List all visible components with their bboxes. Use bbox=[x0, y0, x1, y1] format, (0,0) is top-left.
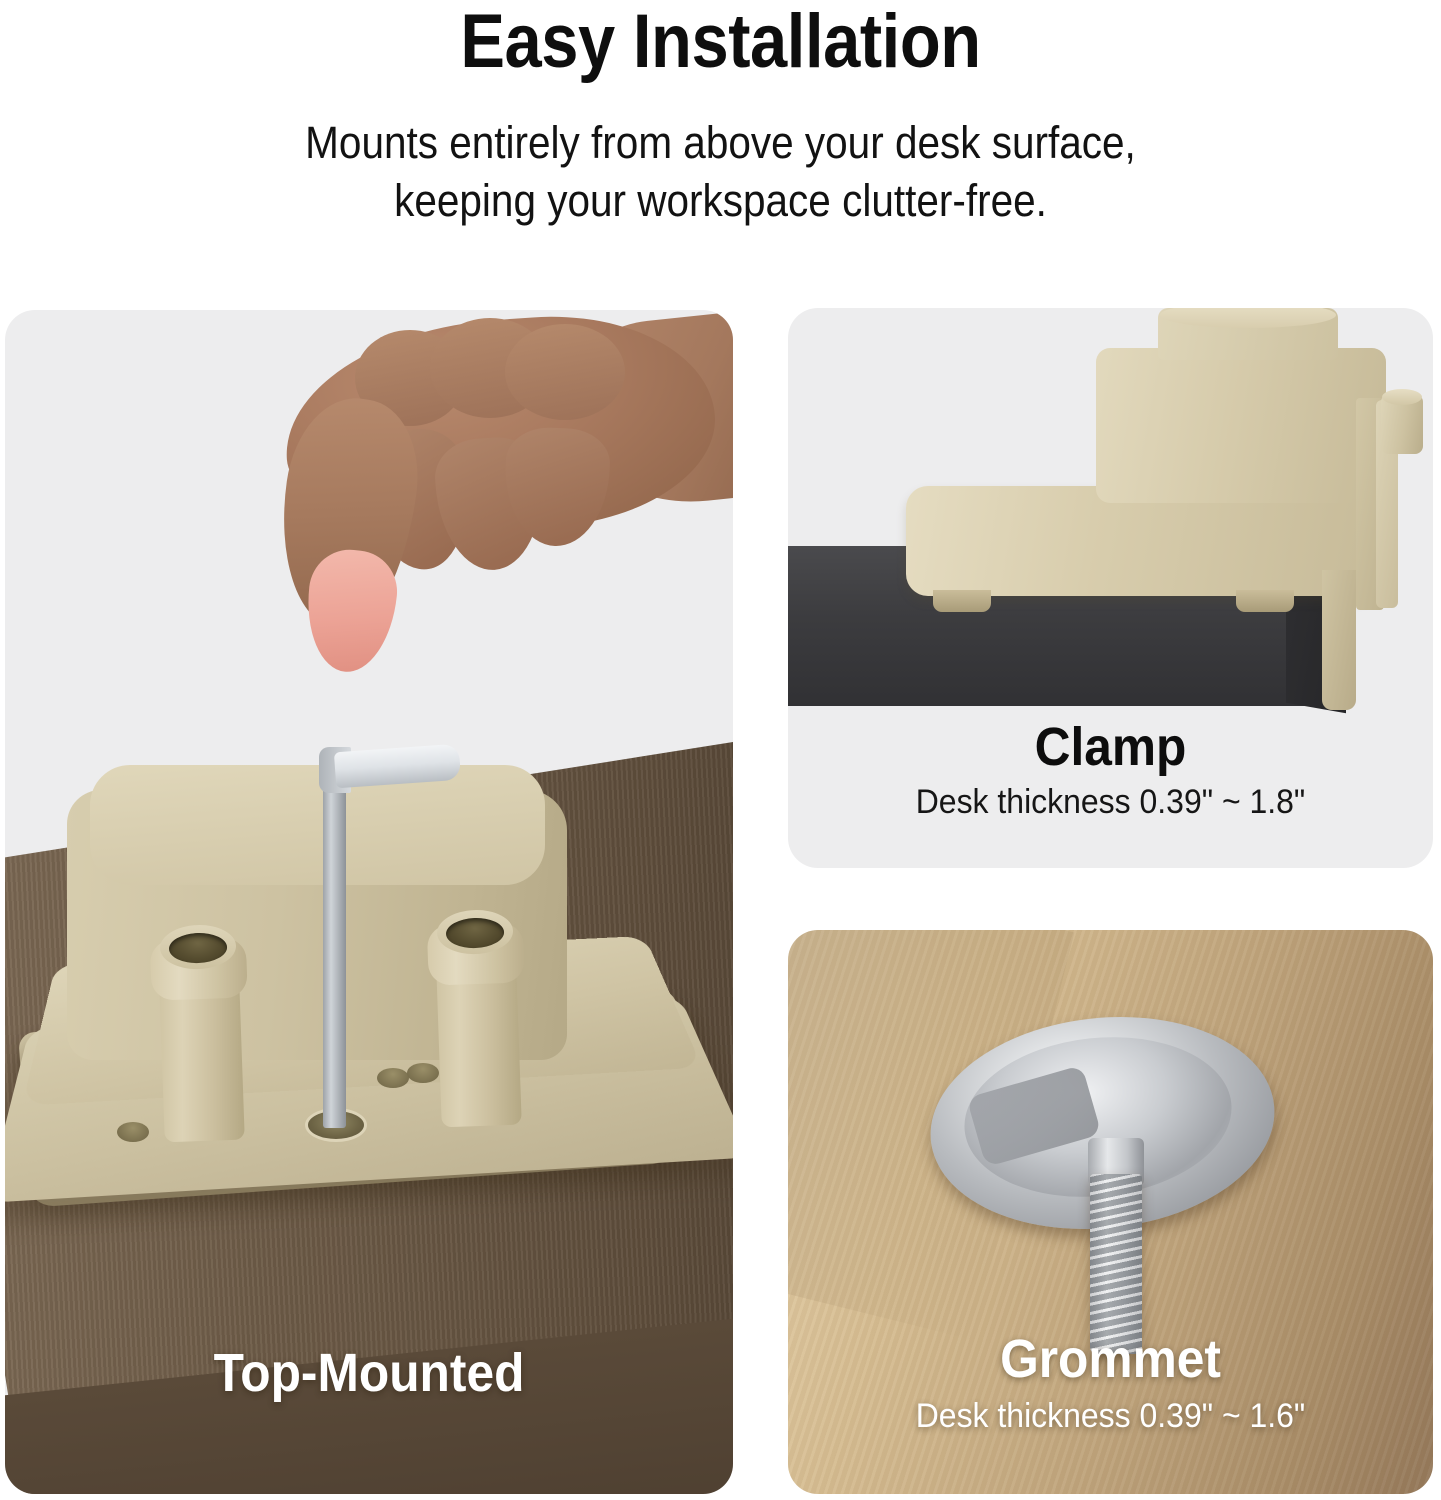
panel-top-mounted[interactable]: Top-Mounted bbox=[5, 310, 733, 1494]
hex-key-shaft bbox=[323, 778, 346, 1128]
page-subtitle: Mounts entirely from above your desk sur… bbox=[72, 114, 1369, 230]
grommet-caption-title: Grommet bbox=[814, 1328, 1407, 1390]
grommet-caption-spec: Desk thickness 0.39" ~ 1.6" bbox=[807, 1394, 1413, 1438]
mount-screw-hole-3 bbox=[117, 1122, 149, 1142]
panel-clamp[interactable]: Clamp Desk thickness 0.39" ~ 1.8" bbox=[788, 308, 1433, 868]
page-subtitle-line-2: keeping your workspace clutter-free. bbox=[72, 172, 1369, 230]
riser-tube-right bbox=[426, 908, 529, 1126]
riser-tube-left bbox=[149, 923, 252, 1141]
page-subtitle-line-1: Mounts entirely from above your desk sur… bbox=[72, 114, 1369, 172]
clamp-pad-left bbox=[933, 590, 991, 612]
clamp-caption-title: Clamp bbox=[814, 716, 1407, 778]
clamp-pad-right bbox=[1236, 590, 1294, 612]
page-title: Easy Installation bbox=[86, 2, 1354, 82]
clamp-jaw bbox=[1322, 570, 1356, 710]
mount-base-body-top bbox=[90, 765, 545, 885]
top-mounted-caption-title: Top-Mounted bbox=[34, 1342, 704, 1404]
grommet-threaded-bolt bbox=[1090, 1174, 1142, 1354]
clamp-caption: Clamp Desk thickness 0.39" ~ 1.8" bbox=[788, 716, 1433, 824]
hand bbox=[205, 310, 725, 640]
clamp-adjust-knob-top bbox=[1382, 389, 1422, 405]
clamp-upper-block bbox=[1096, 348, 1386, 503]
panel-grid: Top-Mounted Clamp Desk thickness 0.39" ~… bbox=[0, 308, 1441, 1494]
knuckle-3 bbox=[505, 324, 625, 420]
clamp-caption-spec: Desk thickness 0.39" ~ 1.8" bbox=[807, 780, 1413, 824]
grommet-caption: Grommet Desk thickness 0.39" ~ 1.6" bbox=[788, 1328, 1433, 1438]
mount-screw-hole-1 bbox=[377, 1068, 409, 1088]
top-mounted-caption: Top-Mounted bbox=[5, 1342, 733, 1404]
header: Easy Installation Mounts entirely from a… bbox=[0, 0, 1441, 230]
panel-grommet[interactable]: Grommet Desk thickness 0.39" ~ 1.6" bbox=[788, 930, 1433, 1494]
